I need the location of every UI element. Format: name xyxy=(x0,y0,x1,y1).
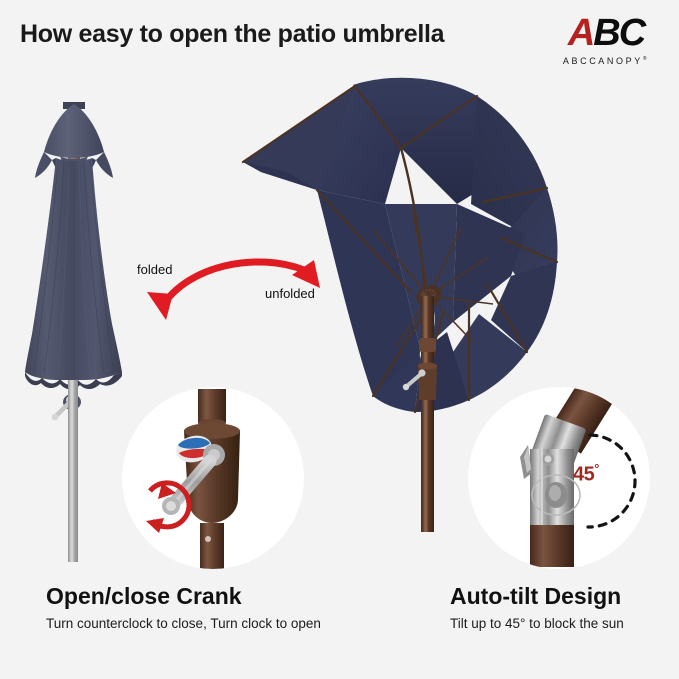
product-infographic: How easy to open the patio umbrella ABC … xyxy=(0,0,679,679)
canopy xyxy=(243,78,558,412)
page-title: How easy to open the patio umbrella xyxy=(20,20,444,49)
folded-umbrella-illustration xyxy=(8,84,140,564)
curved-double-arrow-icon xyxy=(128,248,358,328)
trademark-symbol: ® xyxy=(643,56,649,62)
tilt-angle-label: 45° xyxy=(573,461,599,487)
tilt-caption-title: Auto-tilt Design xyxy=(450,582,624,610)
crank-detail-svg xyxy=(122,387,304,569)
tilt-detail-circle xyxy=(468,387,650,569)
folded-umbrella-svg xyxy=(8,84,140,564)
rotation-arrowhead-bottom xyxy=(146,518,164,533)
logo-wordmark-text: ABCCANOPY xyxy=(563,56,643,66)
crank-caption: Open/close Crank Turn counterclock to cl… xyxy=(46,582,321,634)
logo-letter-a: A xyxy=(568,12,593,54)
tilt-caption-subtitle: Tilt up to 45° to block the sun xyxy=(450,614,624,634)
tilt-caption: Auto-tilt Design Tilt up to 45° to block… xyxy=(450,582,624,634)
degree-symbol: ° xyxy=(594,461,599,476)
tilt-angle-value: 45 xyxy=(573,464,594,486)
logo-mark: ABC xyxy=(547,14,665,52)
crank-caption-subtitle: Turn counterclock to close, Turn clock t… xyxy=(46,614,321,634)
label-folded: folded xyxy=(137,262,172,277)
folded-unfolded-arrow-annotation: folded unfolded xyxy=(128,248,358,328)
crank-caption-title: Open/close Crank xyxy=(46,582,321,610)
crank-detail-circle xyxy=(122,387,304,569)
tilt-detail-svg xyxy=(468,387,650,569)
label-unfolded: unfolded xyxy=(265,286,315,301)
logo-letters-bc: BC xyxy=(593,12,644,54)
